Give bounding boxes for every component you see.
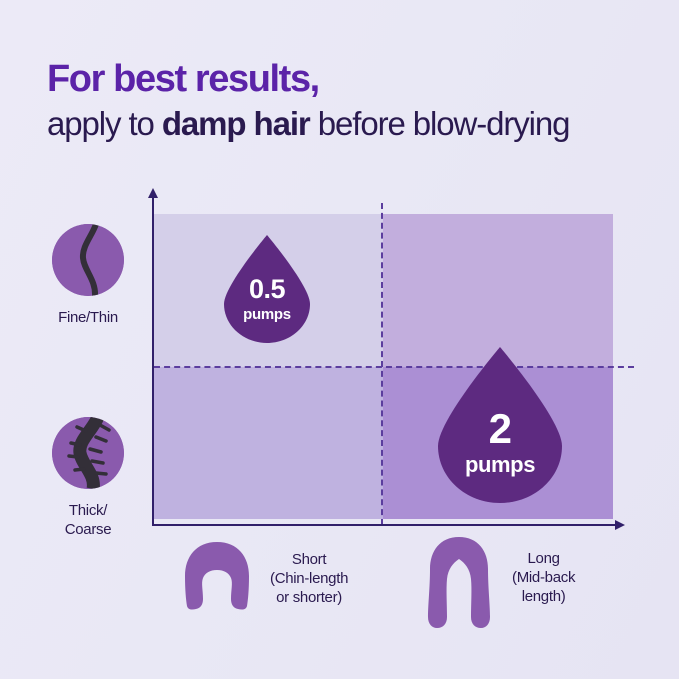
droplet-two-unit: pumps <box>465 454 535 476</box>
y-axis-label-fine-thin: Fine/Thin <box>58 308 118 327</box>
x-axis-item-short: Short (Chin-length or shorter) <box>178 540 348 612</box>
headline-emphasis: damp hair <box>162 105 310 142</box>
infographic-root: For best results, apply to damp hair bef… <box>0 0 679 679</box>
fine-strand-glyph <box>52 224 124 296</box>
x-axis-label-long-title: Long <box>512 549 575 568</box>
fine-hair-strand-icon <box>52 224 124 296</box>
droplet-half-number: 0.5 <box>249 276 285 303</box>
headline-line-1: For best results, <box>47 57 647 101</box>
x-axis-label-short-sub1: (Chin-length <box>270 569 348 588</box>
x-axis-label-long-sub1: (Mid-back <box>512 568 575 587</box>
droplet-two-pumps: 2 pumps <box>438 346 562 504</box>
x-axis-label-long-sub2: length) <box>512 587 575 606</box>
heading-block: For best results, apply to damp hair bef… <box>47 57 647 144</box>
x-axis-line <box>152 524 616 526</box>
thick-strand-glyph <box>52 417 124 489</box>
short-hair-silhouette-icon <box>178 540 256 612</box>
y-axis-label-thick-coarse: Thick/Coarse <box>65 501 112 539</box>
y-axis-line <box>152 196 154 526</box>
headline-suffix: before blow-drying <box>310 105 570 142</box>
droplet-two-number: 2 <box>489 408 512 450</box>
x-axis-label-short-title: Short <box>270 550 348 569</box>
headline-prefix: apply to <box>47 105 162 142</box>
droplet-half-pump: 0.5 pumps <box>224 234 310 344</box>
quadrant-thick-short <box>152 367 383 520</box>
y-axis-item-thick-coarse: Thick/Coarse <box>28 417 148 539</box>
x-axis-label-short: Short (Chin-length or shorter) <box>270 550 348 607</box>
horizontal-divider-dashed <box>154 366 634 368</box>
y-axis-label-thick-line1: Thick/ <box>69 502 107 519</box>
quadrant-fine-long <box>383 214 614 367</box>
droplet-half-text: 0.5 pumps <box>243 276 291 344</box>
long-hair-silhouette-icon <box>420 535 498 631</box>
x-axis-item-long: Long (Mid-back length) <box>420 535 575 631</box>
droplet-two-text: 2 pumps <box>465 408 535 504</box>
x-axis-label-long: Long (Mid-back length) <box>512 549 575 606</box>
y-axis-label-thick-line2: Coarse <box>65 521 112 538</box>
thick-hair-strand-icon <box>52 417 124 489</box>
droplet-half-unit: pumps <box>243 307 291 322</box>
x-axis-label-short-sub2: or shorter) <box>270 588 348 607</box>
headline-line-2: apply to damp hair before blow-drying <box>47 104 647 144</box>
vertical-divider-dashed <box>381 203 383 525</box>
y-axis-item-fine-thin: Fine/Thin <box>28 224 148 327</box>
